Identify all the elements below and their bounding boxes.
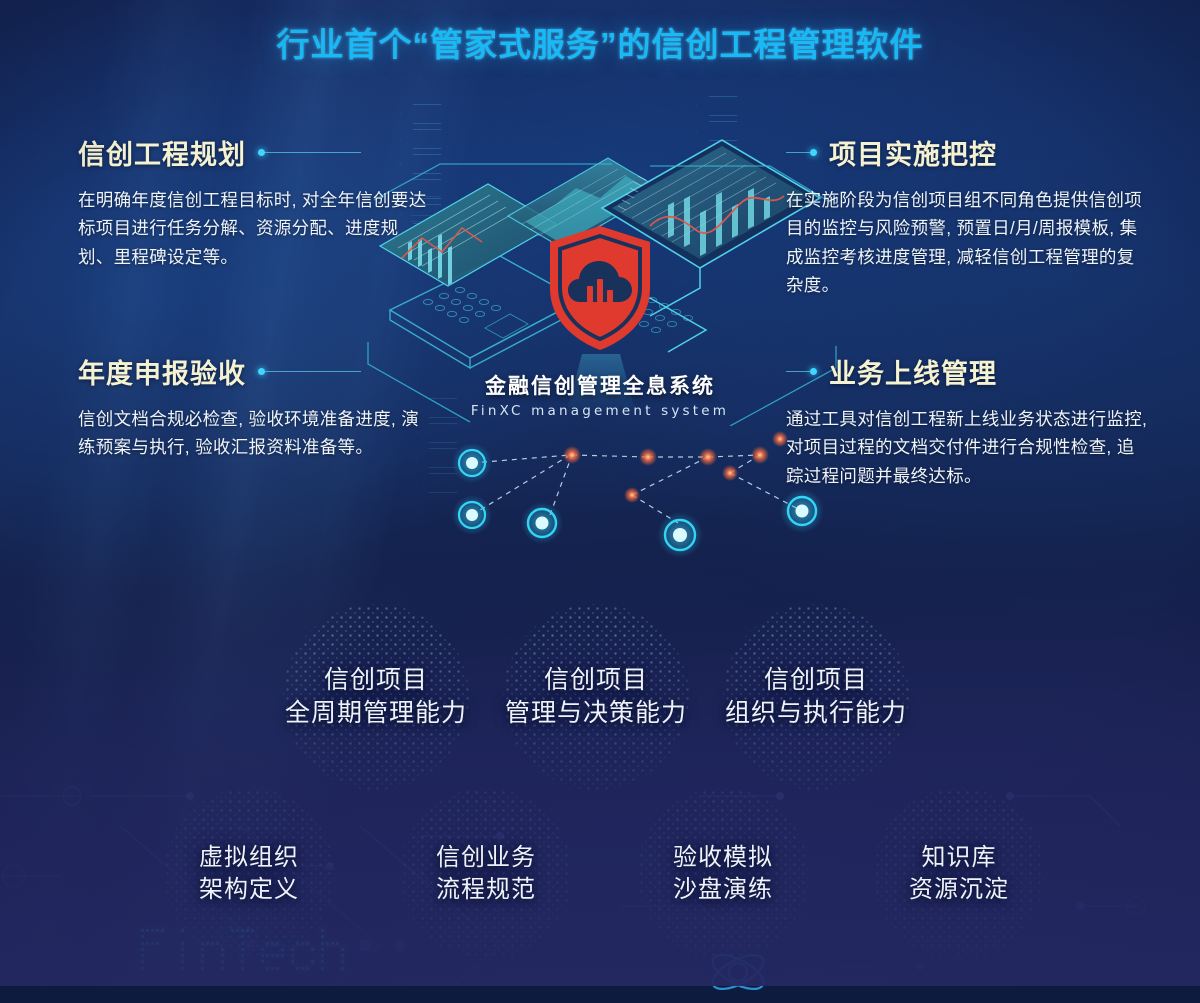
watermark-dot <box>206 948 209 951</box>
watermark-dot <box>236 942 239 945</box>
connector-lead-icon <box>786 368 817 375</box>
watermark-dot <box>266 948 269 951</box>
watermark-dot <box>271 954 274 957</box>
watermark-dot <box>206 960 209 963</box>
watermark-dot <box>211 942 214 945</box>
watermark-dot <box>326 942 329 945</box>
watermark-dot <box>321 942 324 945</box>
watermark-dot <box>256 967 259 970</box>
watermark-dot <box>261 929 264 932</box>
watermark-dot <box>206 967 209 970</box>
watermark-dot <box>271 960 274 963</box>
watermark-dot <box>251 954 254 957</box>
watermark-dot <box>196 935 199 938</box>
feature-heading: 项目实施把控 <box>786 133 1138 172</box>
watermark-dot <box>176 960 179 963</box>
watermark-dot <box>296 948 299 951</box>
watermark-dot <box>201 954 204 957</box>
capability-line1: 信创项目 <box>285 664 467 698</box>
watermark-dot <box>326 935 329 938</box>
watermark-dot <box>331 935 334 938</box>
watermark-dot <box>161 967 164 970</box>
watermark-dot <box>141 960 144 963</box>
watermark-dot <box>231 967 234 970</box>
watermark-dot <box>336 948 339 951</box>
watermark-dot <box>181 954 184 957</box>
watermark-dot <box>176 948 179 951</box>
watermark-dot <box>321 954 324 957</box>
watermark-dot <box>276 960 279 963</box>
watermark-dot <box>311 967 314 970</box>
watermark-dot <box>216 954 219 957</box>
watermark-dot <box>296 960 299 963</box>
watermark-dot <box>281 942 284 945</box>
watermark-dot <box>236 954 239 957</box>
watermark-dot <box>231 960 234 963</box>
watermark-dot <box>336 935 339 938</box>
watermark-dot <box>166 935 169 938</box>
watermark-dot <box>301 954 304 957</box>
watermark-dot <box>226 960 229 963</box>
watermark-dot <box>181 929 184 932</box>
watermark-dot <box>266 935 269 938</box>
feature-block-implementation: 项目实施把控 在实施阶段为信创项目组不同角色提供信创项目的监控与风险预警, 预置… <box>786 133 1138 299</box>
fintech-watermark <box>140 928 330 972</box>
watermark-dot <box>231 954 234 957</box>
watermark-dot <box>141 929 144 932</box>
system-name-label: 金融信创管理全息系统 FinXC management system <box>390 370 810 419</box>
watermark-dot <box>156 929 159 932</box>
watermark-dot <box>251 942 254 945</box>
watermark-dot <box>311 948 314 951</box>
capability-line2: 架构定义 <box>199 874 299 906</box>
feature-heading: 年度申报验收 <box>78 352 430 391</box>
watermark-dot <box>336 942 339 945</box>
watermark-dot <box>306 960 309 963</box>
watermark-dot <box>341 942 344 945</box>
feature-heading-text: 年度申报验收 <box>78 352 246 391</box>
watermark-dot <box>266 942 269 945</box>
watermark-dot <box>186 954 189 957</box>
watermark-dot <box>296 954 299 957</box>
watermark-dot <box>151 929 154 932</box>
watermark-dot <box>141 935 144 938</box>
watermark-dot <box>246 967 249 970</box>
watermark-dot <box>331 954 334 957</box>
network-marker-group <box>563 431 788 503</box>
watermark-dot <box>176 929 179 932</box>
feature-heading-text: 信创工程规划 <box>78 133 246 172</box>
watermark-dot <box>301 942 304 945</box>
watermark-dot <box>336 929 339 932</box>
watermark-dot <box>226 929 229 932</box>
watermark-dot <box>186 967 189 970</box>
watermark-dot <box>266 967 269 970</box>
watermark-dot <box>246 954 249 957</box>
watermark-dot <box>251 948 254 951</box>
connector-line <box>786 371 810 372</box>
watermark-dot <box>171 929 174 932</box>
watermark-dot <box>311 954 314 957</box>
watermark-dot <box>231 935 234 938</box>
watermark-dot <box>216 935 219 938</box>
watermark-dot <box>296 929 299 932</box>
watermark-dot <box>286 935 289 938</box>
watermark-dot <box>206 929 209 932</box>
watermark-dot <box>176 935 179 938</box>
capability-line2: 管理与决策能力 <box>505 697 687 731</box>
watermark-dot <box>201 960 204 963</box>
watermark-dot <box>211 935 214 938</box>
watermark-dot <box>246 929 249 932</box>
watermark-dot <box>146 967 149 970</box>
watermark-dot <box>201 967 204 970</box>
watermark-dot <box>166 960 169 963</box>
watermark-dot <box>171 948 174 951</box>
connector-dot-icon <box>258 149 265 156</box>
watermark-dot <box>176 954 179 957</box>
watermark-dot <box>271 935 274 938</box>
watermark-dot <box>226 954 229 957</box>
connector-line <box>786 152 810 153</box>
feature-block-golive: 业务上线管理 通过工具对信创工程新上线业务状态进行监控, 对项目过程的文档交付件… <box>786 352 1138 490</box>
watermark-dot <box>281 967 284 970</box>
watermark-dot <box>306 935 309 938</box>
capability-label: 信创项目 管理与决策能力 <box>505 664 687 731</box>
watermark-dot <box>181 960 184 963</box>
feature-block-planning: 信创工程规划 在明确年度信创工程目标时, 对全年信创要达标项目进行任务分解、资源… <box>78 133 430 271</box>
watermark-dot <box>276 929 279 932</box>
watermark-dot <box>161 935 164 938</box>
watermark-dot <box>191 967 194 970</box>
watermark-dot <box>141 948 144 951</box>
watermark-dot <box>346 935 349 938</box>
watermark-dot <box>321 948 324 951</box>
watermark-dot <box>211 967 214 970</box>
capability-label: 信创项目 组织与执行能力 <box>725 664 907 731</box>
watermark-dot <box>281 960 284 963</box>
watermark-dot <box>146 960 149 963</box>
watermark-dot <box>166 929 169 932</box>
watermark-dot <box>311 935 314 938</box>
watermark-dot <box>161 929 164 932</box>
watermark-dot <box>166 967 169 970</box>
watermark-dot <box>216 948 219 951</box>
capability-label: 虚拟组织 架构定义 <box>199 842 299 906</box>
capability-line1: 信创业务 <box>436 842 536 874</box>
watermark-dot <box>256 935 259 938</box>
watermark-dot <box>186 935 189 938</box>
watermark-dot <box>311 942 314 945</box>
watermark-dot <box>191 960 194 963</box>
capability-line1: 虚拟组织 <box>199 842 299 874</box>
watermark-dot <box>146 929 149 932</box>
watermark-dot <box>321 960 324 963</box>
watermark-dot <box>256 954 259 957</box>
watermark-dot <box>226 967 229 970</box>
watermark-dot <box>246 948 249 951</box>
watermark-dot <box>156 954 159 957</box>
watermark-dot <box>341 967 344 970</box>
watermark-dot <box>316 935 319 938</box>
feature-body: 通过工具对信创工程新上线业务状态进行监控, 对项目过程的文档交付件进行合规性检查… <box>786 405 1148 490</box>
watermark-dot <box>151 960 154 963</box>
watermark-dot <box>251 960 254 963</box>
watermark-dot <box>146 948 149 951</box>
watermark-dot <box>271 948 274 951</box>
watermark-dot <box>216 967 219 970</box>
watermark-dot <box>346 967 349 970</box>
watermark-dot <box>171 935 174 938</box>
watermark-dot <box>146 935 149 938</box>
watermark-dot <box>271 942 274 945</box>
watermark-dot <box>326 948 329 951</box>
watermark-dot <box>276 942 279 945</box>
watermark-dot <box>196 942 199 945</box>
watermark-dot <box>316 948 319 951</box>
watermark-dot <box>331 948 334 951</box>
watermark-dot <box>311 960 314 963</box>
capability-line1: 信创项目 <box>725 664 907 698</box>
watermark-dot <box>286 954 289 957</box>
watermark-dot <box>141 967 144 970</box>
watermark-dot <box>241 942 244 945</box>
watermark-dot <box>171 954 174 957</box>
watermark-dot <box>171 942 174 945</box>
watermark-dot <box>241 929 244 932</box>
watermark-dot <box>241 954 244 957</box>
watermark-dot <box>266 929 269 932</box>
watermark-dot <box>231 948 234 951</box>
watermark-dot <box>226 942 229 945</box>
connector-dot-icon <box>258 368 265 375</box>
capability-line2: 沙盘演练 <box>673 874 773 906</box>
watermark-dot <box>326 967 329 970</box>
watermark-dot <box>176 942 179 945</box>
watermark-dot <box>256 948 259 951</box>
watermark-dot <box>191 954 194 957</box>
atom-orbit-icon <box>700 938 776 998</box>
watermark-dot <box>221 954 224 957</box>
watermark-dot <box>336 967 339 970</box>
watermark-dot <box>206 935 209 938</box>
watermark-dot <box>166 942 169 945</box>
watermark-dot <box>316 942 319 945</box>
watermark-dot <box>321 967 324 970</box>
watermark-dot <box>191 935 194 938</box>
watermark-dot <box>331 967 334 970</box>
watermark-dot <box>156 967 159 970</box>
watermark-dot <box>231 942 234 945</box>
node-network-diagram <box>420 415 840 555</box>
watermark-dot <box>286 948 289 951</box>
watermark-dot <box>276 954 279 957</box>
watermark-dot <box>346 929 349 932</box>
watermark-dot <box>221 960 224 963</box>
network-node-group <box>452 443 824 558</box>
capability-line1: 验收模拟 <box>673 842 773 874</box>
watermark-dot <box>316 967 319 970</box>
watermark-dot <box>311 929 314 932</box>
watermark-dot <box>156 948 159 951</box>
watermark-dot <box>286 967 289 970</box>
watermark-dot <box>331 929 334 932</box>
watermark-dot <box>146 954 149 957</box>
watermark-dot <box>291 942 294 945</box>
capability-label: 验收模拟 沙盘演练 <box>673 842 773 906</box>
feature-heading: 业务上线管理 <box>786 352 1138 391</box>
watermark-dot <box>216 942 219 945</box>
watermark-dot <box>221 935 224 938</box>
watermark-dot <box>236 948 239 951</box>
watermark-dot <box>181 935 184 938</box>
watermark-dot <box>346 948 349 951</box>
watermark-dot <box>236 935 239 938</box>
watermark-dot <box>296 967 299 970</box>
watermark-dot <box>346 942 349 945</box>
watermark-dot <box>141 954 144 957</box>
watermark-dot <box>276 967 279 970</box>
watermark-dot <box>301 967 304 970</box>
watermark-dot <box>256 960 259 963</box>
watermark-dot <box>261 954 264 957</box>
watermark-dot <box>201 942 204 945</box>
watermark-dot <box>241 967 244 970</box>
watermark-dot <box>151 967 154 970</box>
watermark-dot <box>206 954 209 957</box>
watermark-dot <box>261 967 264 970</box>
watermark-dot <box>156 960 159 963</box>
watermark-dot <box>181 942 184 945</box>
watermark-dot <box>191 942 194 945</box>
feature-block-acceptance: 年度申报验收 信创文档合规必检查, 验收环境准备进度, 演练预案与执行, 验收汇… <box>78 352 430 462</box>
watermark-dot <box>296 935 299 938</box>
watermark-dot <box>186 960 189 963</box>
watermark-dot <box>241 948 244 951</box>
watermark-dot <box>326 960 329 963</box>
watermark-dot <box>306 967 309 970</box>
watermark-dot <box>166 954 169 957</box>
watermark-dot <box>316 960 319 963</box>
watermark-dot <box>271 929 274 932</box>
watermark-dot <box>191 929 194 932</box>
watermark-dot <box>211 960 214 963</box>
watermark-dot <box>291 954 294 957</box>
feature-body: 在实施阶段为信创项目组不同角色提供信创项目的监控与风险预警, 预置日/月/周报模… <box>786 186 1148 299</box>
capability-line1: 知识库 <box>909 842 1009 874</box>
capability-line2: 资源沉淀 <box>909 874 1009 906</box>
capability-label: 信创业务 流程规范 <box>436 842 536 906</box>
watermark-dot <box>301 948 304 951</box>
watermark-dot <box>336 954 339 957</box>
watermark-dot <box>236 929 239 932</box>
watermark-dot <box>301 929 304 932</box>
watermark-dot <box>181 967 184 970</box>
connector-line <box>265 152 361 153</box>
watermark-dot <box>321 929 324 932</box>
watermark-dot <box>331 942 334 945</box>
watermark-dot <box>186 929 189 932</box>
watermark-dot <box>156 935 159 938</box>
watermark-dot <box>156 942 159 945</box>
watermark-dot <box>291 960 294 963</box>
connector-line <box>265 371 361 372</box>
watermark-dot <box>211 929 214 932</box>
watermark-dot <box>196 929 199 932</box>
watermark-dot <box>196 954 199 957</box>
watermark-dot <box>306 929 309 932</box>
watermark-dot <box>261 960 264 963</box>
watermark-dot <box>211 948 214 951</box>
watermark-dot <box>261 948 264 951</box>
connector-lead-icon <box>258 368 361 375</box>
watermark-dot <box>251 929 254 932</box>
watermark-dot <box>211 954 214 957</box>
watermark-dot <box>316 929 319 932</box>
watermark-dot <box>301 935 304 938</box>
watermark-dot <box>291 967 294 970</box>
watermark-dot <box>201 948 204 951</box>
watermark-dot <box>281 948 284 951</box>
watermark-dot <box>246 935 249 938</box>
watermark-dot <box>261 935 264 938</box>
watermark-dot <box>151 935 154 938</box>
watermark-dot <box>341 948 344 951</box>
watermark-dot <box>346 954 349 957</box>
watermark-dot <box>341 935 344 938</box>
watermark-dot <box>186 942 189 945</box>
feature-heading-text: 业务上线管理 <box>829 352 997 391</box>
watermark-dot <box>266 954 269 957</box>
watermark-dot <box>251 935 254 938</box>
watermark-dot <box>281 929 284 932</box>
watermark-dot <box>196 967 199 970</box>
watermark-dot <box>306 954 309 957</box>
watermark-dot <box>281 935 284 938</box>
capability-line2: 全周期管理能力 <box>285 697 467 731</box>
watermark-dot <box>231 929 234 932</box>
feature-body: 信创文档合规必检查, 验收环境准备进度, 演练预案与执行, 验收汇报资料准备等。 <box>78 405 430 462</box>
watermark-dot <box>181 948 184 951</box>
watermark-dot <box>146 942 149 945</box>
watermark-dot <box>296 942 299 945</box>
connector-lead-icon <box>258 149 361 156</box>
watermark-dot <box>236 967 239 970</box>
watermark-dot <box>251 967 254 970</box>
watermark-dot <box>151 948 154 951</box>
watermark-dot <box>286 960 289 963</box>
feature-heading: 信创工程规划 <box>78 133 430 172</box>
watermark-dot <box>286 942 289 945</box>
capability-label: 信创项目 全周期管理能力 <box>285 664 467 731</box>
watermark-dot <box>241 960 244 963</box>
watermark-dot <box>161 942 164 945</box>
watermark-dot <box>141 942 144 945</box>
watermark-dot <box>161 960 164 963</box>
watermark-dot <box>186 948 189 951</box>
watermark-dot <box>201 935 204 938</box>
watermark-dot <box>281 954 284 957</box>
watermark-dot <box>221 942 224 945</box>
watermark-dot <box>151 954 154 957</box>
watermark-dot <box>246 942 249 945</box>
watermark-dot <box>221 948 224 951</box>
watermark-dot <box>261 942 264 945</box>
watermark-dot <box>161 954 164 957</box>
watermark-dot <box>161 948 164 951</box>
watermark-dot <box>226 948 229 951</box>
feature-body: 在明确年度信创工程目标时, 对全年信创要达标项目进行任务分解、资源分配、进度规划… <box>78 186 430 271</box>
